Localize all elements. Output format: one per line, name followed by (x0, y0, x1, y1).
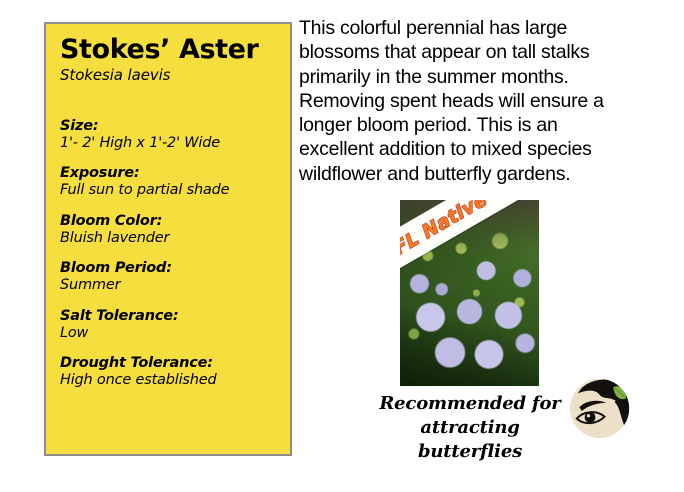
fact-card-content: Stokes’ Aster Stokesia laevis Size: 1'- … (46, 24, 290, 390)
attribute-label: Bloom Period: (60, 260, 276, 277)
photo-caption: Recommended for attracting butterflies (372, 392, 568, 464)
photo-caption-line-2: attracting butterflies (372, 416, 568, 464)
attribute-size: Size: 1'- 2' High x 1'-2' Wide (60, 118, 276, 153)
organization-logo (568, 377, 631, 440)
plant-photo: FL Native (400, 200, 539, 386)
attribute-value: 1'- 2' High x 1'-2' Wide (60, 135, 276, 152)
plant-common-name: Stokes’ Aster (60, 36, 276, 64)
plant-attribute-list: Size: 1'- 2' High x 1'-2' Wide Exposure:… (60, 118, 276, 390)
attribute-label: Exposure: (60, 165, 276, 182)
attribute-value: Bluish lavender (60, 230, 276, 247)
attribute-salt-tolerance: Salt Tolerance: Low (60, 308, 276, 343)
attribute-exposure: Exposure: Full sun to partial shade (60, 165, 276, 200)
plant-scientific-name: Stokesia laevis (60, 67, 276, 84)
attribute-value: Summer (60, 277, 276, 294)
attribute-drought-tolerance: Drought Tolerance: High once established (60, 355, 276, 390)
face-with-leaf-icon (568, 377, 631, 440)
attribute-label: Size: (60, 118, 276, 135)
attribute-value: Full sun to partial shade (60, 182, 276, 199)
plant-fact-card: Stokes’ Aster Stokesia laevis Size: 1'- … (44, 22, 292, 456)
attribute-value: Low (60, 325, 276, 342)
attribute-label: Salt Tolerance: (60, 308, 276, 325)
attribute-value: High once established (60, 372, 276, 389)
attribute-label: Bloom Color: (60, 213, 276, 230)
attribute-bloom-color: Bloom Color: Bluish lavender (60, 213, 276, 248)
attribute-label: Drought Tolerance: (60, 355, 276, 372)
attribute-bloom-period: Bloom Period: Summer (60, 260, 276, 295)
photo-caption-line-1: Recommended for (372, 392, 568, 416)
plant-description-text: This colorful perennial has large blosso… (299, 16, 634, 186)
